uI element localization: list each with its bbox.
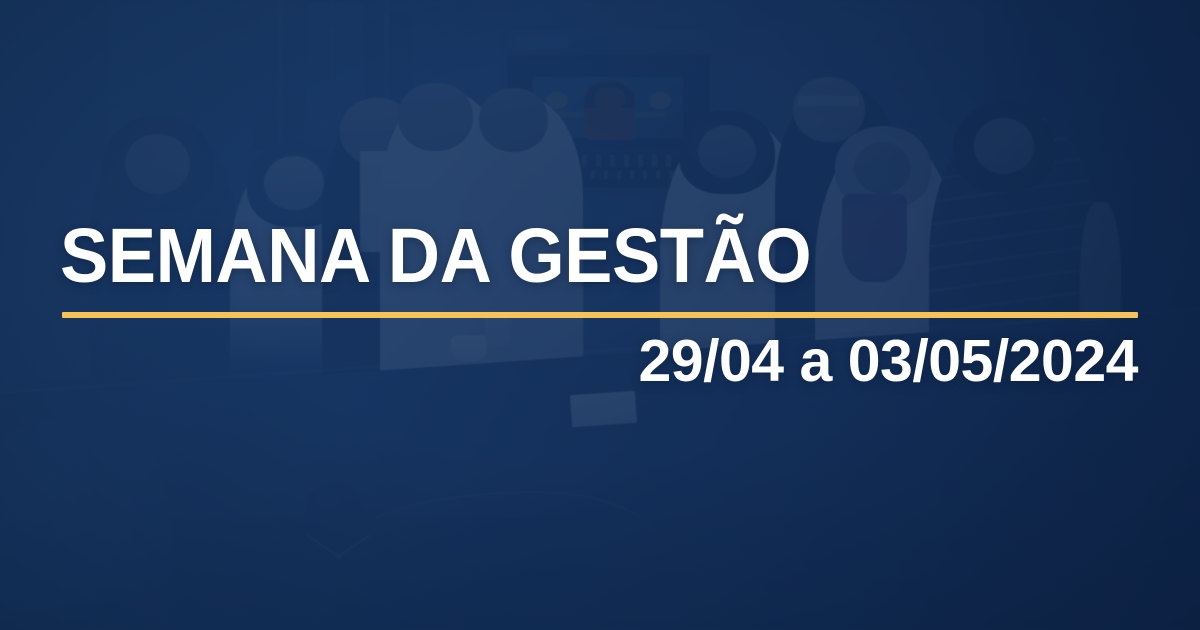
banner-title: SEMANA DA GESTÃO bbox=[60, 218, 811, 295]
banner-date-range: 29/04 a 03/05/2024 bbox=[638, 332, 1138, 391]
event-banner: SEMANA DA GESTÃO 29/04 a 03/05/2024 bbox=[0, 0, 1200, 630]
banner-content: SEMANA DA GESTÃO 29/04 a 03/05/2024 bbox=[0, 0, 1200, 630]
gold-divider bbox=[62, 312, 1138, 318]
